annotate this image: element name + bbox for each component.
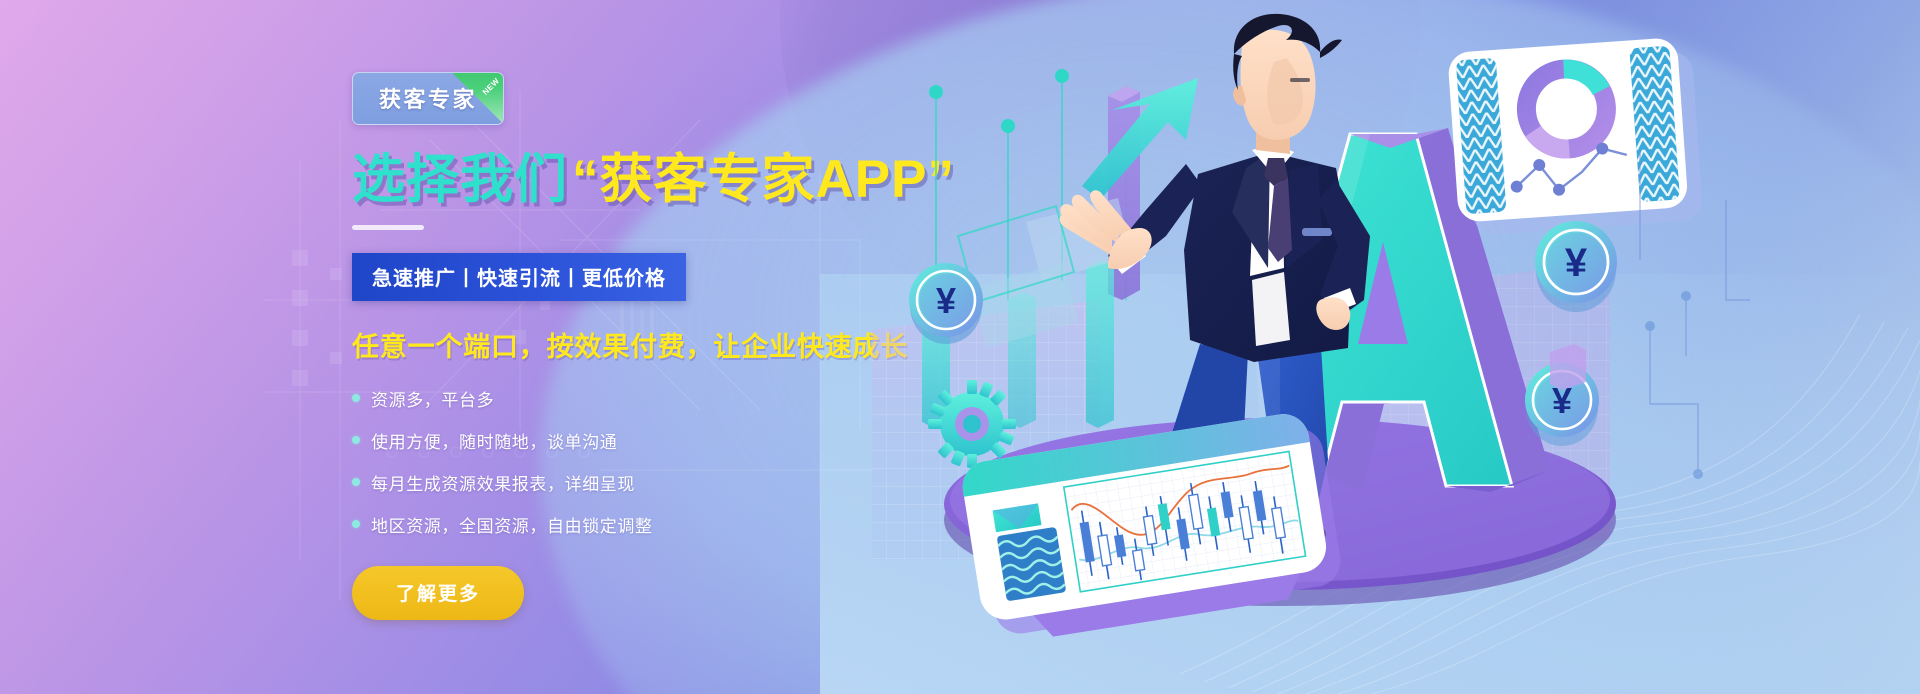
bullet-dot-icon bbox=[352, 394, 360, 402]
list-item: 资源多，平台多 bbox=[352, 386, 912, 411]
hero-illustration: ¥ ¥ ¥ bbox=[850, 0, 1920, 694]
yen-coin-left: ¥ bbox=[909, 263, 983, 344]
list-item: 每月生成资源效果报表，详细呈现 bbox=[352, 470, 912, 495]
yen-coin-right-upper: ¥ bbox=[1535, 221, 1617, 312]
list-item-label: 使用方便，随时随地，谈单沟通 bbox=[371, 428, 617, 453]
learn-more-button[interactable]: 了解更多 bbox=[352, 566, 524, 620]
subheadline: 任意一个端口，按效果付费，让企业快速成长 bbox=[352, 325, 912, 364]
bullet-dot-icon bbox=[352, 436, 360, 444]
promo-banner: 获客专家 NEW 选择我们“获客专家APP” 急速推广丨快速引流丨更低价格 任意… bbox=[0, 0, 1920, 694]
title-divider bbox=[352, 225, 424, 230]
list-item: 使用方便，随时随地，谈单沟通 bbox=[352, 428, 912, 453]
feature-list: 资源多，平台多 使用方便，随时随地，谈单沟通 每月生成资源效果报表，详细呈现 地… bbox=[352, 386, 912, 537]
svg-text:¥: ¥ bbox=[936, 280, 956, 321]
svg-text:¥: ¥ bbox=[1565, 241, 1588, 285]
copy-block: 获客专家 NEW 选择我们“获客专家APP” 急速推广丨快速引流丨更低价格 任意… bbox=[352, 72, 912, 620]
list-item-label: 每月生成资源效果报表，详细呈现 bbox=[371, 470, 635, 495]
list-item-label: 地区资源，全国资源，自由锁定调整 bbox=[371, 512, 653, 537]
product-badge-label: 获客专家 bbox=[379, 87, 477, 112]
product-badge: 获客专家 NEW bbox=[352, 72, 504, 125]
headline-part-one: 选择我们 bbox=[352, 150, 568, 209]
donut-chart-tablet bbox=[1447, 36, 1703, 237]
feature-tag-bar: 急速推广丨快速引流丨更低价格 bbox=[352, 253, 686, 301]
feature-tag-bar-label: 急速推广丨快速引流丨更低价格 bbox=[372, 268, 666, 290]
list-item-label: 资源多，平台多 bbox=[371, 386, 494, 411]
learn-more-button-label: 了解更多 bbox=[396, 584, 480, 605]
bullet-dot-icon bbox=[352, 520, 360, 528]
page-title: 选择我们“获客专家APP” bbox=[352, 152, 912, 208]
bullet-dot-icon bbox=[352, 478, 360, 486]
list-item: 地区资源，全国资源，自由锁定调整 bbox=[352, 512, 912, 537]
gear-icon bbox=[928, 380, 1016, 468]
